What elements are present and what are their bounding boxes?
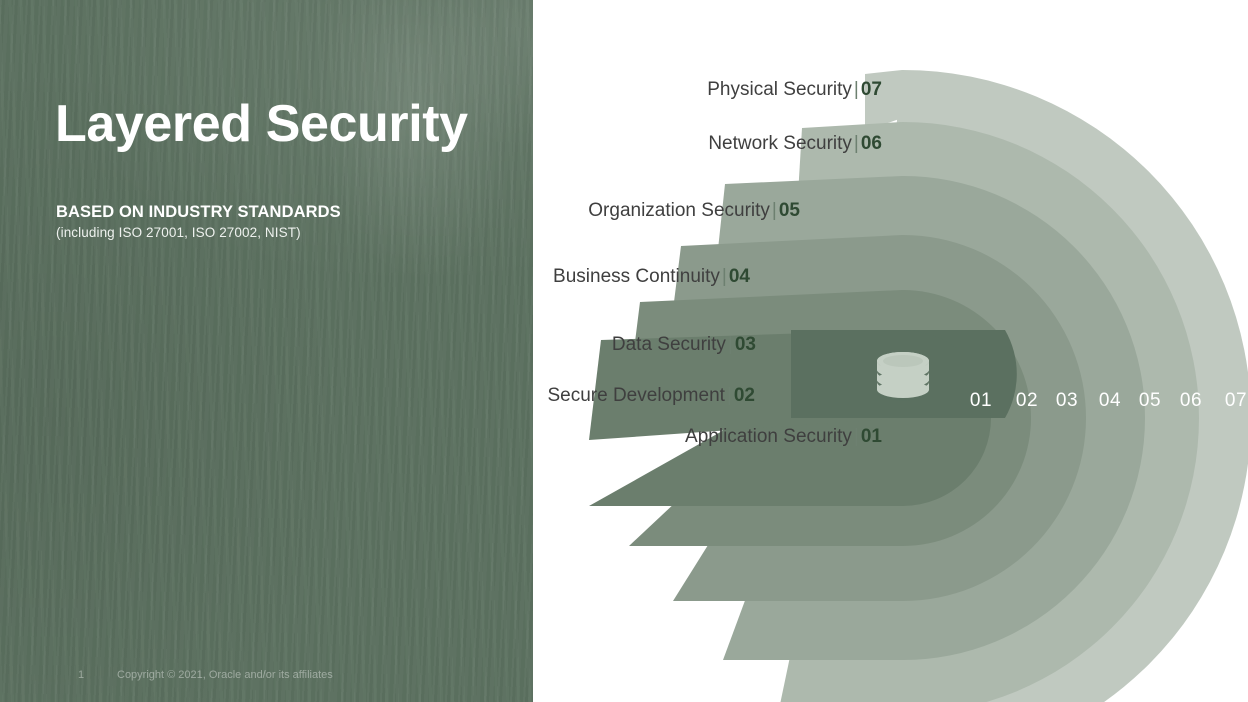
callout-07[interactable]: Physical Security|07 xyxy=(707,79,882,101)
callout-07-separator: | xyxy=(852,79,861,100)
callout-01[interactable]: Application Security|01 xyxy=(685,426,882,448)
callout-01-separator: | xyxy=(852,426,861,447)
ring-number-02: 02 xyxy=(1016,390,1038,411)
page-subtitle-note: (including ISO 27001, ISO 27002, NIST) xyxy=(56,225,301,240)
footer-page-number: 1 xyxy=(78,669,84,681)
callout-04-separator: | xyxy=(720,266,729,287)
callout-07-label: Physical Security xyxy=(707,79,852,100)
database-icon xyxy=(877,352,929,401)
layered-security-diagram: 01 02 03 04 05 06 07 Physical Security|0… xyxy=(533,0,1248,702)
title-panel: Layered Security BASED ON INDUSTRY STAND… xyxy=(0,0,533,702)
callout-03-index: 03 xyxy=(735,334,756,355)
callout-02-separator: | xyxy=(725,385,734,406)
callout-01-label: Application Security xyxy=(685,426,852,447)
footer: 1 Copyright © 2021, Oracle and/or its af… xyxy=(0,669,533,691)
ring-number-01: 01 xyxy=(970,390,992,411)
callout-02-index: 02 xyxy=(734,385,755,406)
page-subtitle: BASED ON INDUSTRY STANDARDS xyxy=(56,203,341,222)
callout-04-index: 04 xyxy=(729,266,750,287)
callout-05-index: 05 xyxy=(779,200,800,221)
callout-06[interactable]: Network Security|06 xyxy=(708,133,882,155)
callout-05[interactable]: Organization Security|05 xyxy=(588,200,800,222)
callout-05-separator: | xyxy=(770,200,779,221)
callout-06-index: 06 xyxy=(861,133,882,154)
callout-07-index: 07 xyxy=(861,79,882,100)
callout-01-index: 01 xyxy=(861,426,882,447)
callout-06-separator: | xyxy=(852,133,861,154)
ring-number-04: 04 xyxy=(1099,390,1121,411)
callout-03-label: Data Security xyxy=(612,334,726,355)
callout-06-label: Network Security xyxy=(708,133,852,154)
callout-03-separator: | xyxy=(726,334,735,355)
ring-number-06: 06 xyxy=(1180,390,1202,411)
page-title: Layered Security xyxy=(55,97,468,152)
callout-04-label: Business Continuity xyxy=(553,266,720,287)
slide-canvas: Layered Security BASED ON INDUSTRY STAND… xyxy=(0,0,1248,702)
callout-02[interactable]: Secure Development|02 xyxy=(547,385,755,407)
ring-number-07: 07 xyxy=(1225,390,1247,411)
callout-04[interactable]: Business Continuity|04 xyxy=(553,266,750,288)
callout-03[interactable]: Data Security|03 xyxy=(612,334,756,356)
callout-05-label: Organization Security xyxy=(588,200,770,221)
ring-number-05: 05 xyxy=(1139,390,1161,411)
callout-02-label: Secure Development xyxy=(547,385,724,406)
footer-copyright: Copyright © 2021, Oracle and/or its affi… xyxy=(117,669,333,681)
ring-number-03: 03 xyxy=(1056,390,1078,411)
